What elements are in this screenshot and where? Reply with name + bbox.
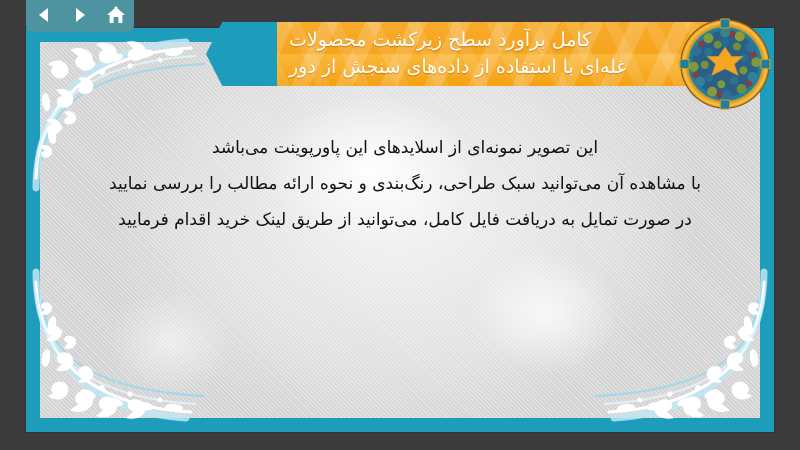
body-line-3: در صورت تمایل به دریافت فایل کامل، می‌تو… — [60, 202, 750, 238]
previous-slide-button[interactable] — [31, 3, 57, 27]
body-line-1: این تصویر نمونه‌ای از اسلایدهای این پاور… — [60, 130, 750, 166]
triangle-right-icon — [71, 6, 89, 24]
slide-body-text: این تصویر نمونه‌ای از اسلایدهای این پاور… — [60, 130, 750, 238]
title-line-1: کامل برآورد سطح زیرکشت محصولات — [289, 27, 591, 54]
slide-navigation-bar — [26, 0, 134, 32]
slide-title-banner: کامل برآورد سطح زیرکشت محصولات غله‌ای با… — [277, 22, 732, 86]
slide-title: کامل برآورد سطح زیرکشت محصولات غله‌ای با… — [277, 22, 732, 86]
home-icon — [106, 6, 126, 25]
home-button[interactable] — [103, 3, 129, 27]
triangle-left-icon — [35, 6, 53, 24]
ornamental-medallion-icon — [679, 18, 771, 110]
slide-canvas: کامل برآورد سطح زیرکشت محصولات غله‌ای با… — [0, 0, 800, 450]
next-slide-button[interactable] — [67, 3, 93, 27]
body-line-2: با مشاهده آن می‌توانید سبک طراحی، رنگ‌بن… — [60, 166, 750, 202]
title-line-2: غله‌ای با استفاده از داده‌های سنجش از دو… — [289, 54, 626, 81]
